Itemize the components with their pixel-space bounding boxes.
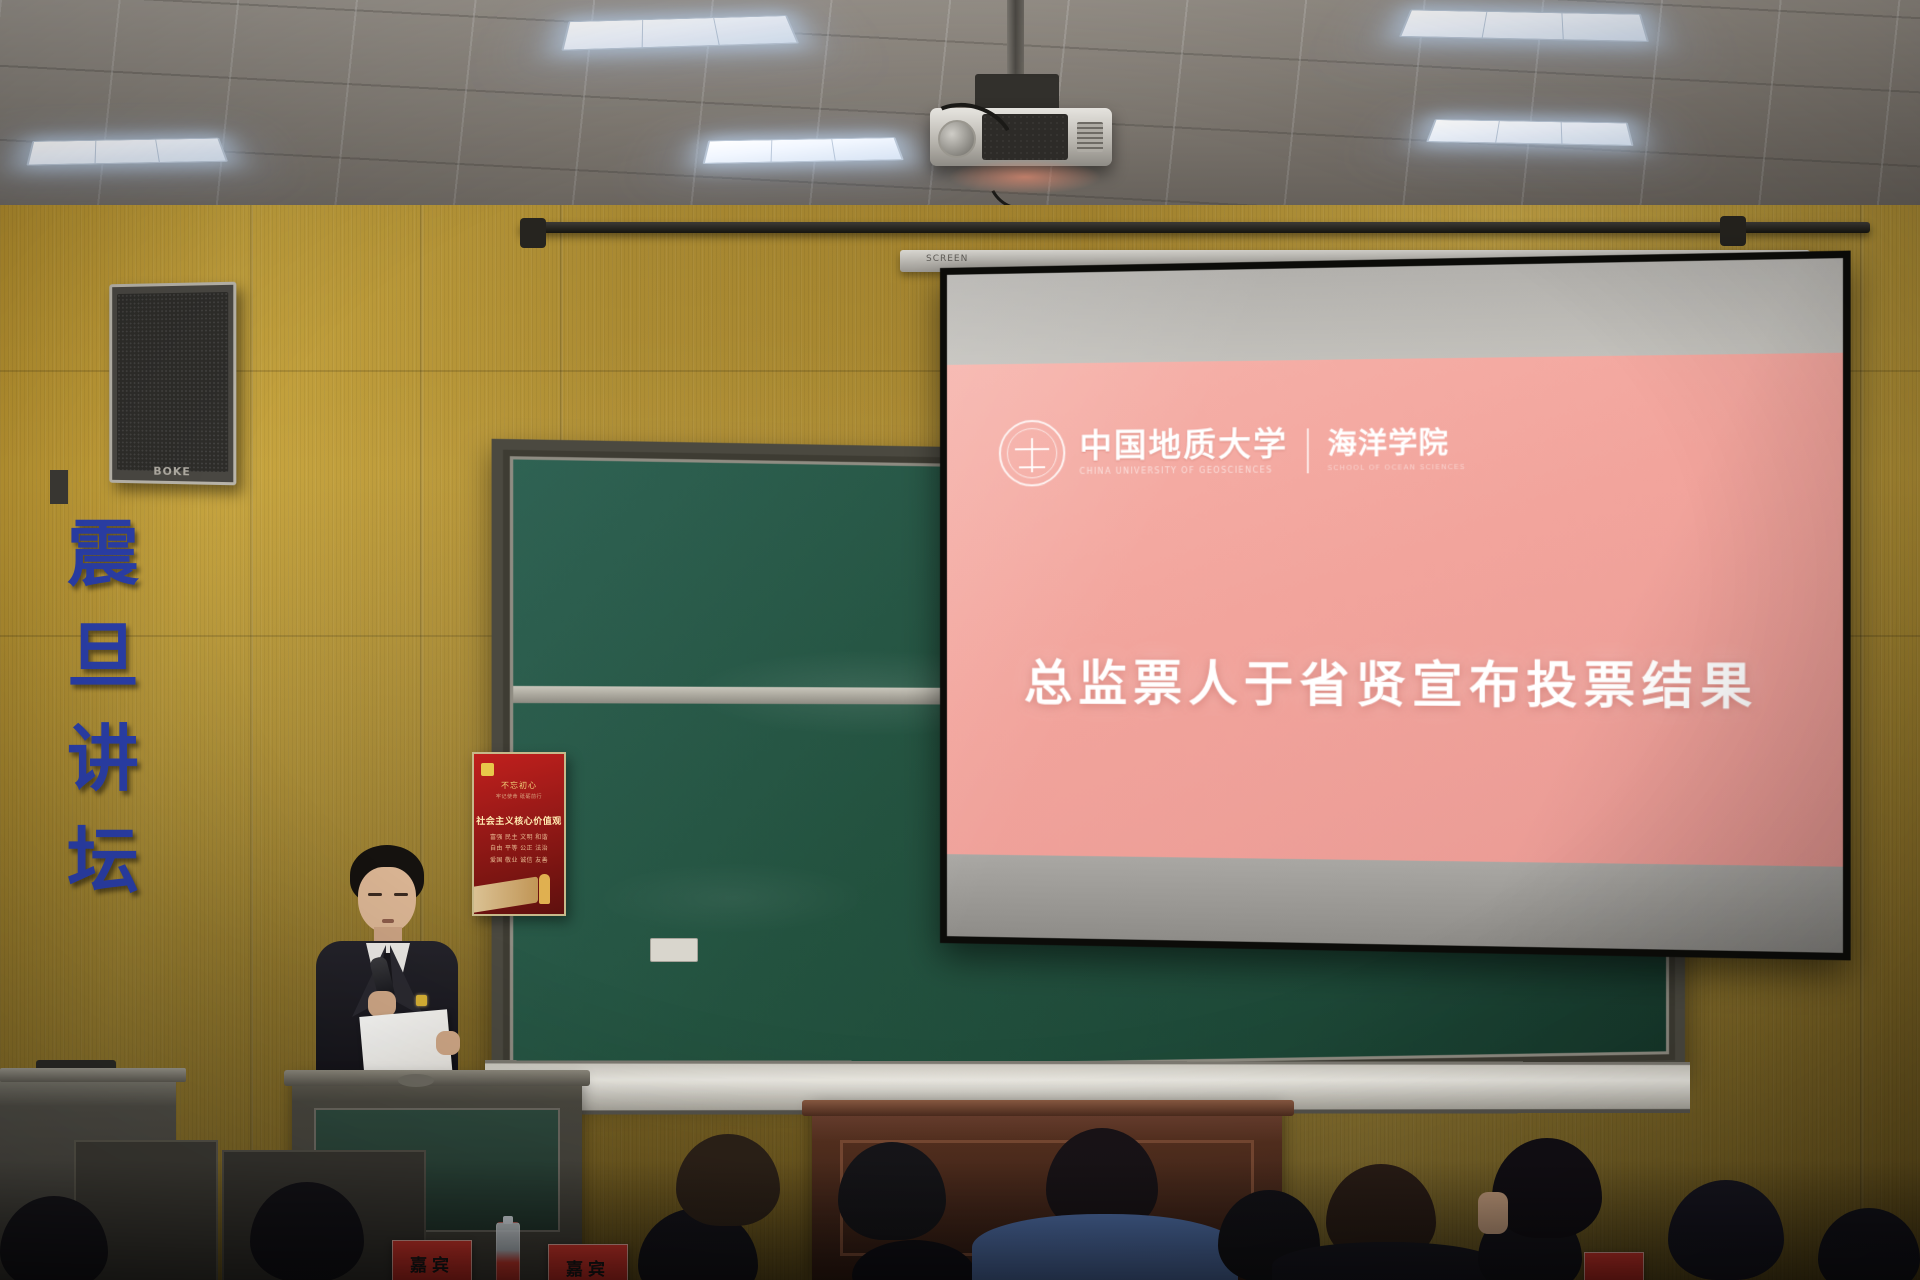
calligraphy-char: 震 bbox=[67, 520, 139, 588]
ceiling-light-panel bbox=[703, 137, 904, 164]
ceiling-light-panel bbox=[26, 138, 228, 166]
guest-name-card-label: 嘉宾 bbox=[410, 1251, 454, 1276]
university-seal-icon bbox=[999, 420, 1065, 487]
logo-divider bbox=[1307, 428, 1309, 473]
rod-end-bracket bbox=[1720, 216, 1746, 246]
ceiling-light-panel bbox=[1426, 119, 1634, 146]
speaker-grill bbox=[117, 292, 228, 472]
speaker-brand-label: BOKE bbox=[112, 464, 233, 479]
slide-bottom-bar bbox=[947, 854, 1843, 953]
propaganda-poster: 不忘初心 牢记使命 砥砺前行 社会主义核心价值观 富强 民主 文明 和谐 自由 … bbox=[472, 752, 566, 916]
water-bottle bbox=[496, 1222, 520, 1280]
poster-main-line: 社会主义核心价值观 bbox=[474, 814, 564, 827]
side-table-top bbox=[0, 1068, 186, 1082]
calligraphy-char: 旦 bbox=[67, 622, 139, 690]
school-name-cn: 海洋学院 bbox=[1328, 428, 1466, 458]
poster-subheading: 牢记使命 砥砺前行 bbox=[474, 793, 564, 800]
university-name-cn: 中国地质大学 bbox=[1079, 428, 1288, 462]
university-name-en: CHINA UNIVERSITY OF GEOSCIENCES bbox=[1079, 465, 1288, 476]
poster-illustration-base bbox=[472, 876, 538, 913]
rod-end-bracket bbox=[520, 218, 546, 248]
speaker-bracket bbox=[50, 470, 68, 504]
university-logo: 中国地质大学 CHINA UNIVERSITY OF GEOSCIENCES 海… bbox=[999, 416, 1466, 487]
projector-vent bbox=[1077, 122, 1103, 152]
podium-surface bbox=[284, 1070, 590, 1086]
blackboard-eraser bbox=[650, 938, 698, 962]
poster-body-text: 富强 民主 文明 和谐 自由 平等 公正 法治 爱国 敬业 诚信 友善 bbox=[474, 832, 564, 866]
guest-name-card: 嘉宾 bbox=[548, 1244, 628, 1280]
wall-loudspeaker: BOKE bbox=[109, 282, 236, 486]
audience-shoulders bbox=[972, 1214, 1238, 1280]
guest-name-card bbox=[1584, 1252, 1644, 1280]
lapel-pin-icon bbox=[416, 995, 427, 1006]
screen-mounting-rod bbox=[520, 222, 1870, 233]
ceiling-light-panel bbox=[1399, 9, 1649, 42]
poster-heading: 不忘初心 bbox=[474, 780, 564, 791]
poster-illustration-figure bbox=[539, 874, 550, 904]
slide-top-bar bbox=[947, 258, 1843, 365]
calligraphy-char: 讲 bbox=[67, 725, 139, 793]
wall-calligraphy: 震 旦 讲 坛 bbox=[48, 520, 158, 896]
party-emblem-icon bbox=[481, 763, 494, 776]
calligraphy-char: 坛 bbox=[67, 827, 139, 895]
projection-screen: 中国地质大学 CHINA UNIVERSITY OF GEOSCIENCES 海… bbox=[940, 251, 1851, 961]
school-name-en: SCHOOL OF OCEAN SCIENCES bbox=[1328, 462, 1466, 471]
projector-mount-pole bbox=[1007, 0, 1024, 78]
projector-bracket bbox=[975, 74, 1059, 112]
guest-name-card-label: 嘉宾 bbox=[566, 1255, 610, 1280]
screen-case-label: SCREEN bbox=[926, 254, 968, 264]
lecture-hall-photo: 震 旦 讲 坛 BOKE 不忘初心 牢记使命 砥砺前行 社会主义核心价值观 富强… bbox=[0, 0, 1920, 1280]
slide-title: 总监票人于省贤宣布投票结果 bbox=[947, 643, 1843, 718]
microphone-base bbox=[398, 1074, 434, 1087]
front-desk-surface bbox=[802, 1100, 1294, 1116]
slide-content: 中国地质大学 CHINA UNIVERSITY OF GEOSCIENCES 海… bbox=[947, 353, 1843, 867]
raised-hand bbox=[1478, 1192, 1508, 1234]
projector-lamp-glow bbox=[950, 160, 1100, 194]
projected-slide: 中国地质大学 CHINA UNIVERSITY OF GEOSCIENCES 海… bbox=[947, 258, 1843, 953]
presenter bbox=[300, 845, 470, 1105]
audience-shoulders bbox=[1272, 1242, 1502, 1280]
guest-name-card: 嘉宾 bbox=[392, 1240, 472, 1280]
